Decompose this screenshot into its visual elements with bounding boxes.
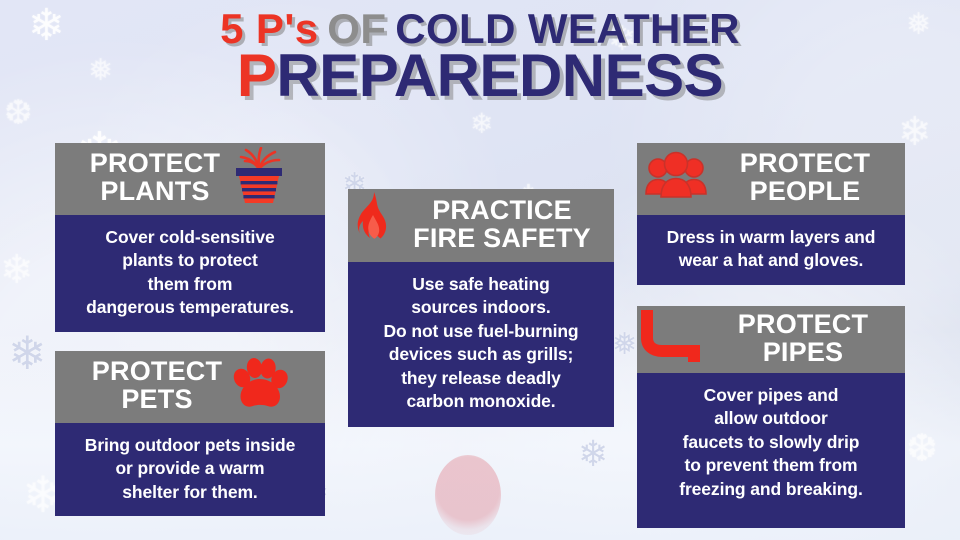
snowflake-icon: ❄ [0,250,34,290]
card-protect-people: PROTECT PEOPLE Dress in warm layers and … [637,143,905,285]
page-title: 5 P's OF COLD WEATHER PREPAREDNESS [0,8,960,106]
card-connector-line [480,262,483,277]
card-heading-label: PROTECT PETS [92,358,222,413]
card-header-protect-plants: PROTECT PLANTS [55,143,325,215]
card-protect-pipes: PROTECT PIPES Cover pipes and allow outd… [637,306,905,528]
card-header-protect-pets: PROTECT PETS [55,351,325,423]
people-group-icon [645,150,707,207]
card-protect-pets: PROTECT PETS Bring outdoor pets inside o… [55,351,325,516]
card-practice-fire-safety: PRACTICE FIRE SAFETY Use safe heating so… [348,189,614,427]
cold-weather-preparedness-infographic: ❄ ❅ ❄ ❆ ❄ ❄ ❅ ❄ ❆ ❄ ❄ ❆ ❄ ❅ ❄ ❄ ❅ ❄ ❄ ❆ … [0,0,960,540]
title-preparedness: REPAREDNESS [276,42,723,109]
card-heading-label: PROTECT PLANTS [90,150,220,205]
paw-print-icon [230,357,288,416]
card-body-practice-fire-safety: Use safe heating sources indoors. Do not… [348,262,614,427]
flame-icon [352,191,392,258]
bent-pipe-icon [641,308,703,369]
card-heading-label: PROTECT PEOPLE [715,150,895,205]
title-line-2: PREPAREDNESS [0,47,960,106]
card-connector-line [770,215,773,229]
card-heading-label: PROTECT PIPES [711,311,895,366]
card-header-protect-pipes: PROTECT PIPES [637,306,905,373]
potted-plant-icon [228,147,290,210]
faint-logo-watermark [435,455,501,535]
snowflake-icon: ❄ [470,110,493,138]
card-heading-label: PRACTICE FIRE SAFETY [400,197,604,252]
card-header-practice-fire-safety: PRACTICE FIRE SAFETY [348,189,614,262]
card-protect-plants: PROTECT PLANTS [55,143,325,332]
card-connector-line [189,215,192,230]
card-body-protect-plants: Cover cold-sensitive plants to protect t… [55,215,325,332]
snowflake-icon: ❆ [906,430,938,468]
snowflake-icon: ❅ [612,330,637,360]
card-connector-line [770,373,773,387]
card-connector-line [189,423,192,438]
card-header-protect-people: PROTECT PEOPLE [637,143,905,215]
snowflake-icon: ❄ [8,330,47,376]
title-initial-p: P [237,42,277,109]
snowflake-icon: ❄ [578,436,608,472]
card-body-protect-pipes: Cover pipes and allow outdoor faucets to… [637,373,905,528]
